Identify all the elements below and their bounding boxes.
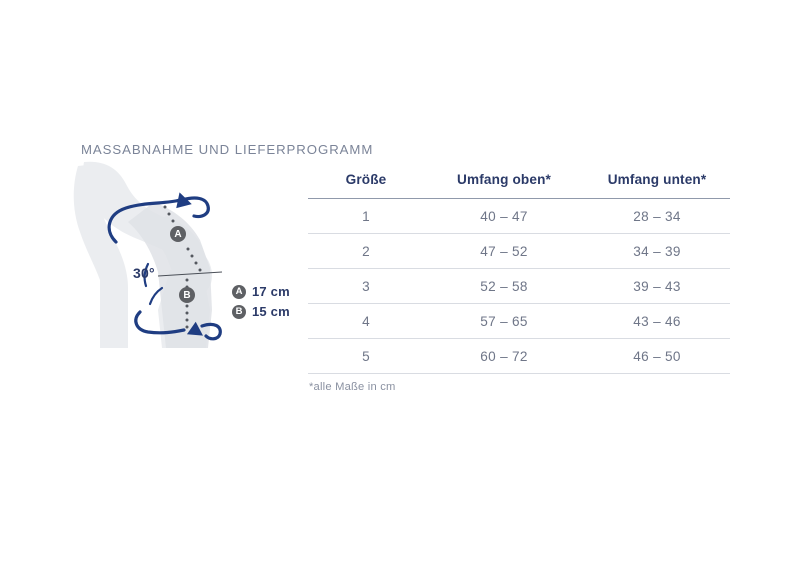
table-row: 5 60 – 72 46 – 50 xyxy=(308,339,730,374)
cell-top: 57 – 65 xyxy=(424,304,584,339)
cell-bottom: 39 – 43 xyxy=(584,269,730,304)
column-header-top: Umfang oben* xyxy=(424,172,584,199)
cell-size: 3 xyxy=(308,269,424,304)
legend-badge-a-icon: A xyxy=(232,285,246,299)
legend-item-a: A 17 cm xyxy=(232,284,290,299)
table-footnote: *alle Maße in cm xyxy=(309,381,396,393)
cell-size: 4 xyxy=(308,304,424,339)
sizing-chart-page: MASSABNAHME UND LIEFERPROGRAMM xyxy=(0,0,800,582)
column-header-size: Größe xyxy=(308,172,424,199)
table-row: 1 40 – 47 28 – 34 xyxy=(308,199,730,234)
cell-size: 1 xyxy=(308,199,424,234)
page-title: MASSABNAHME UND LIEFERPROGRAMM xyxy=(81,142,373,157)
cell-top: 40 – 47 xyxy=(424,199,584,234)
legend-value-a: 17 cm xyxy=(252,284,290,299)
measurement-legend: A 17 cm B 15 cm xyxy=(232,284,290,319)
point-a-badge: A xyxy=(170,226,186,242)
column-header-bottom: Umfang unten* xyxy=(584,172,730,199)
cell-size: 2 xyxy=(308,234,424,269)
legend-badge-b-icon: B xyxy=(232,305,246,319)
cell-bottom: 34 – 39 xyxy=(584,234,730,269)
cell-size: 5 xyxy=(308,339,424,374)
cell-bottom: 28 – 34 xyxy=(584,199,730,234)
legend-value-b: 15 cm xyxy=(252,304,290,319)
point-b-badge: B xyxy=(179,287,195,303)
cell-bottom: 46 – 50 xyxy=(584,339,730,374)
table-header-row: Größe Umfang oben* Umfang unten* xyxy=(308,172,730,199)
cell-top: 60 – 72 xyxy=(424,339,584,374)
legend-item-b: B 15 cm xyxy=(232,304,290,319)
cell-top: 47 – 52 xyxy=(424,234,584,269)
size-table: Größe Umfang oben* Umfang unten* 1 40 – … xyxy=(308,172,730,374)
table-header: Größe Umfang oben* Umfang unten* xyxy=(308,172,730,199)
table-row: 2 47 – 52 34 – 39 xyxy=(308,234,730,269)
cell-top: 52 – 58 xyxy=(424,269,584,304)
table-row: 3 52 – 58 39 – 43 xyxy=(308,269,730,304)
measurement-illustration: 30° A B xyxy=(70,160,300,350)
table-body: 1 40 – 47 28 – 34 2 47 – 52 34 – 39 3 52… xyxy=(308,199,730,374)
angle-label: 30° xyxy=(133,265,155,281)
table-row: 4 57 – 65 43 – 46 xyxy=(308,304,730,339)
cell-bottom: 43 – 46 xyxy=(584,304,730,339)
